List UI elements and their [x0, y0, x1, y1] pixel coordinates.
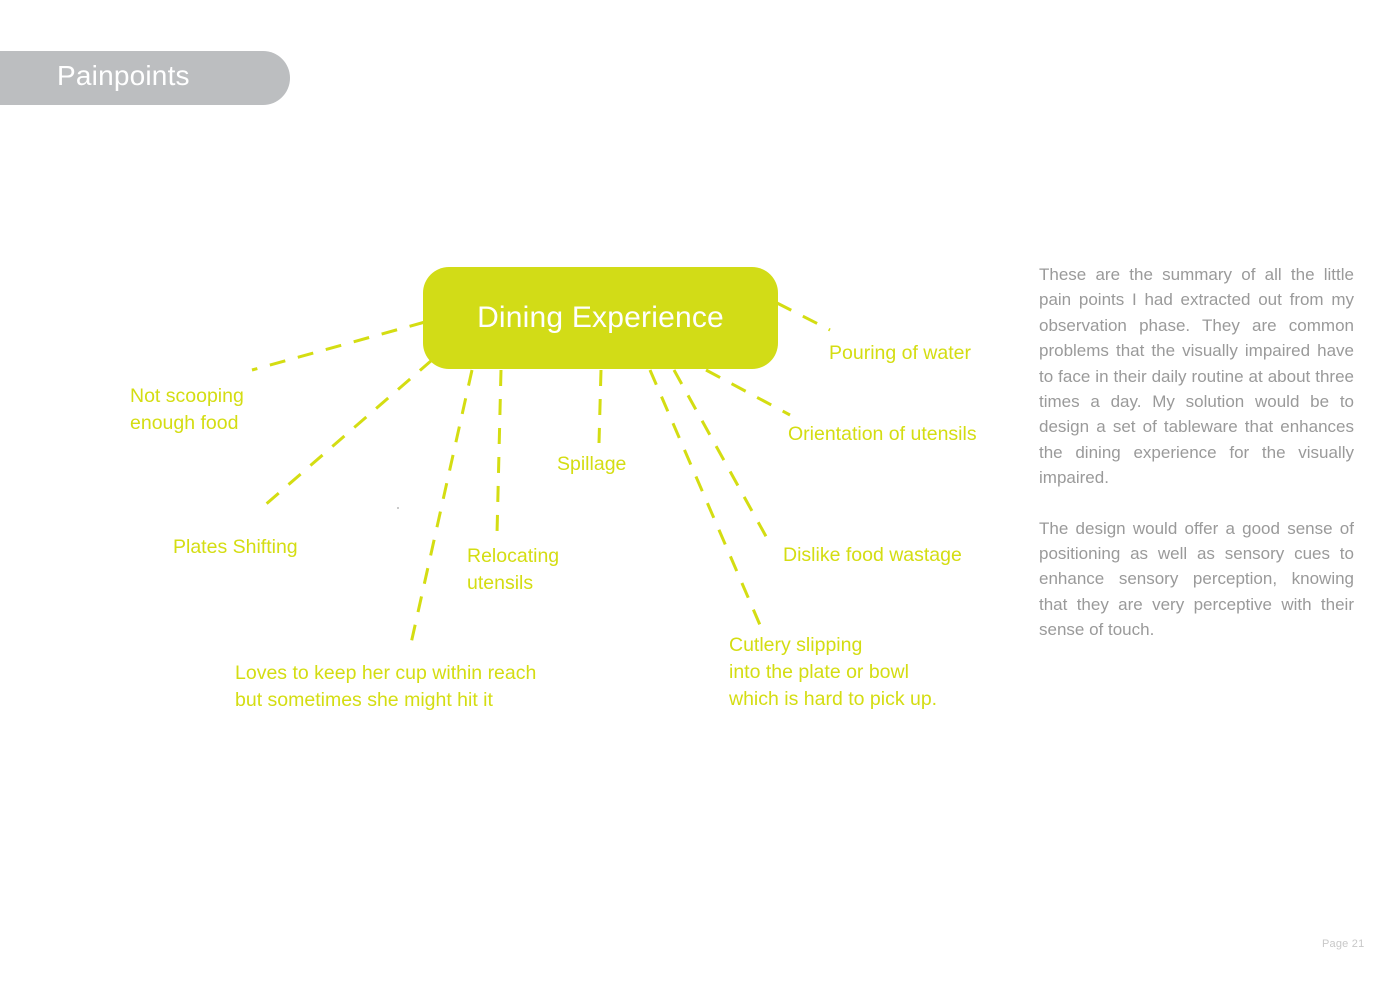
page-number: Page 21 — [1322, 938, 1364, 950]
mindmap-leaf-dislike-food-wastage[interactable]: Dislike food wastage — [783, 542, 962, 569]
mindmap-leaf-loves-to-keep-her-cup[interactable]: Loves to keep her cup within reach but s… — [235, 660, 536, 714]
mindmap-leaf-relocating-utensils[interactable]: Relocating utensils — [467, 543, 559, 597]
mindmap-leaf-plates-shifting[interactable]: Plates Shifting — [173, 534, 298, 561]
description-column: These are the summary of all the little … — [1039, 262, 1354, 643]
connector-pouring-of-water — [777, 303, 830, 330]
connector-relocating-utensils — [497, 370, 501, 534]
stray-dot-artifact — [397, 507, 399, 509]
slide-canvas: Painpoints — [0, 0, 1400, 990]
mindmap-leaf-orientation-of-utensils[interactable]: Orientation of utensils — [788, 421, 977, 448]
connector-not-scooping — [252, 322, 425, 370]
mindmap: Dining Experience Not scooping enough fo… — [0, 0, 1030, 990]
mindmap-center-label: Dining Experience — [477, 301, 724, 335]
connector-orientation-utensils — [706, 370, 790, 415]
mindmap-connectors — [0, 0, 1030, 990]
mindmap-leaf-not-scooping-enough-food[interactable]: Not scooping enough food — [130, 383, 244, 437]
description-paragraph-1: These are the summary of all the little … — [1039, 262, 1354, 491]
mindmap-center-node[interactable]: Dining Experience — [423, 267, 778, 369]
mindmap-leaf-pouring-of-water[interactable]: Pouring of water — [829, 340, 971, 367]
description-paragraph-2: The design would offer a good sense of p… — [1039, 516, 1354, 643]
connector-loves-cup — [410, 370, 472, 648]
mindmap-leaf-spillage[interactable]: Spillage — [557, 451, 626, 478]
connector-spillage — [599, 370, 601, 443]
mindmap-leaf-cutlery-slipping[interactable]: Cutlery slipping into the plate or bowl … — [729, 632, 937, 713]
connector-plates-shifting — [265, 360, 432, 505]
